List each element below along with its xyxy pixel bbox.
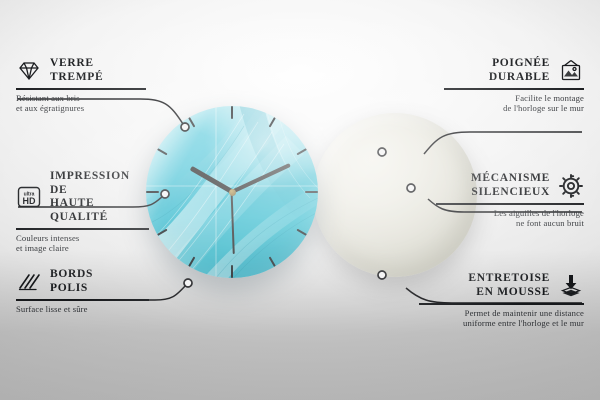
feature-verre-trempe: VERRE TREMPÉ Résistant aux bris et aux é… [16,57,146,114]
feature-title-line2: DURABLE [489,71,550,85]
feature-header: ultra HD IMPRESSION DE HAUTE QUALITÉ [16,170,149,224]
feature-sub-line2: et aux égratignures [16,103,146,114]
feature-sub-line1: Permet de maintenir une distance [419,308,584,319]
feature-impression-haute-qualite: ultra HD IMPRESSION DE HAUTE QUALITÉ Cou… [16,170,149,254]
hands-center-cap [229,189,236,196]
feature-entretoise-en-mousse: ENTRETOISE EN MOUSSE Permet de maintenir… [419,272,584,329]
feature-sub-line1: Facilite le montage [444,93,584,104]
feature-header: POIGNÉE DURABLE [444,57,584,84]
feature-sub-line1: Surface lisse et sûre [16,304,149,315]
feature-bords-polis: BORDS POLIS Surface lisse et sûre [16,268,149,314]
feature-rule [16,88,146,90]
feature-title-line1: POIGNÉE [489,57,550,71]
feature-sub-line2: uniforme entre l'horloge et le mur [419,318,584,329]
feature-title-line2: TREMPÉ [50,71,103,85]
feature-sub-line2: de l'horloge sur le mur [444,103,584,114]
svg-text:HD: HD [23,196,36,206]
hanging-frame-icon [558,58,584,84]
feature-title-line1: BORDS [50,268,93,282]
polished-edge-icon [16,269,42,295]
feature-sub-line1: Résistant aux bris [16,93,146,104]
feature-header: ENTRETOISE EN MOUSSE [419,272,584,299]
feature-rule [16,299,149,301]
clock-front-view [146,106,318,278]
feature-header: VERRE TREMPÉ [16,57,146,84]
feature-title-line2: HAUTE QUALITÉ [50,197,149,224]
feature-title-line1: VERRE [50,57,103,71]
feature-sub-line1: Les aiguilles de l'horloge [436,208,584,219]
feature-rule [444,88,584,90]
feature-title-line1: MÉCANISME [471,172,550,186]
infographic-canvas: VERRE TREMPÉ Résistant aux bris et aux é… [0,0,600,400]
diamond-icon [16,58,42,84]
feature-rule [419,303,584,305]
feature-sub-line1: Couleurs intenses [16,233,149,244]
feature-title-line1: IMPRESSION DE [50,170,149,197]
feature-sub-line2: et image claire [16,243,149,254]
feature-title-line2: SILENCIEUX [471,186,550,200]
feature-poignee-durable: POIGNÉE DURABLE Facilite le montage de l… [444,57,584,114]
feature-mecanisme-silencieux: MÉCANISME SILENCIEUX Les aiguilles de l'… [436,172,584,229]
feature-header: MÉCANISME SILENCIEUX [436,172,584,199]
feature-title-line2: POLIS [50,282,93,296]
feature-sub-line2: ne font aucun bruit [436,218,584,229]
feature-rule [16,228,149,230]
feature-header: BORDS POLIS [16,268,149,295]
foam-spacer-icon [558,273,584,299]
ultra-hd-icon: ultra HD [16,184,42,210]
gear-icon [558,173,584,199]
feature-title-line1: ENTRETOISE [468,272,550,286]
feature-rule [436,203,584,205]
feature-title-line2: EN MOUSSE [468,286,550,300]
